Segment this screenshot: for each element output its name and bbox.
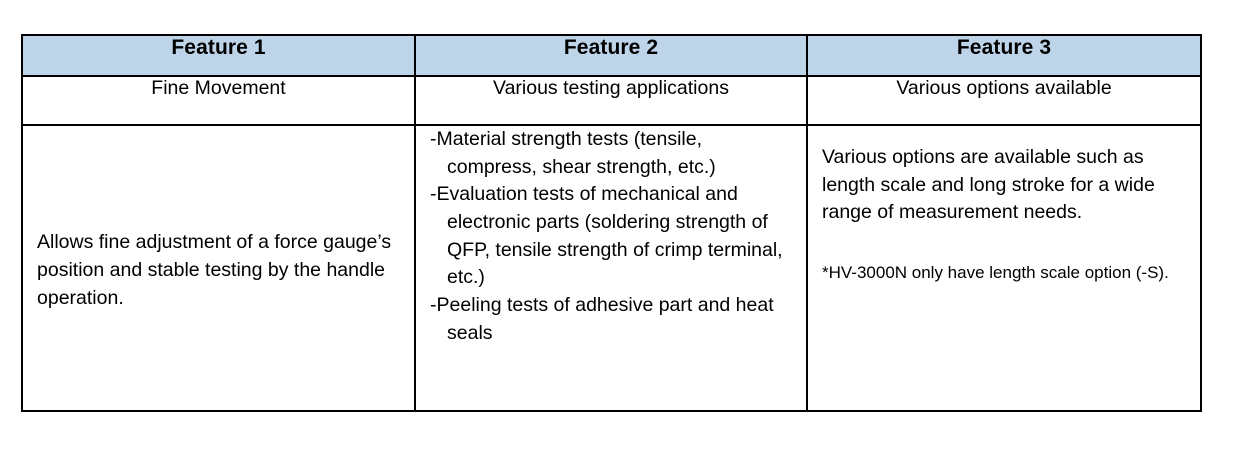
body-content-feature-2: -Material strength tests (tensile, compr…: [416, 126, 806, 348]
table-header-row: Feature 1 Feature 2 Feature 3: [22, 35, 1201, 76]
header-cell-feature-3: Feature 3: [807, 35, 1201, 76]
list-item: -Material strength tests (tensile, compr…: [430, 126, 796, 181]
subtitle-label-feature-1: Fine Movement: [23, 77, 414, 99]
page-root: Feature 1 Feature 2 Feature 3 Fine Movem…: [0, 0, 1243, 456]
header-cell-feature-1: Feature 1: [22, 35, 415, 76]
body-cell-feature-1: Allows fine adjustment of a force gauge’…: [22, 125, 415, 411]
subtitle-cell-feature-3: Various options available: [807, 76, 1201, 125]
body-content-feature-3: Various options are available such as le…: [808, 126, 1200, 293]
subtitle-label-feature-3: Various options available: [808, 77, 1200, 99]
header-label-feature-3: Feature 3: [808, 36, 1200, 59]
table-subtitle-row: Fine Movement Various testing applicatio…: [22, 76, 1201, 125]
feature-comparison-table: Feature 1 Feature 2 Feature 3 Fine Movem…: [21, 34, 1202, 412]
body-paragraph-feature-3: Various options are available such as le…: [822, 144, 1188, 227]
subtitle-cell-feature-2: Various testing applications: [415, 76, 807, 125]
body-footnote-feature-3: *HV-3000N only have length scale option …: [822, 261, 1188, 285]
body-paragraph-feature-1: Allows fine adjustment of a force gauge’…: [37, 229, 402, 312]
table-body-row: Allows fine adjustment of a force gauge’…: [22, 125, 1201, 411]
body-content-feature-1: Allows fine adjustment of a force gauge’…: [23, 215, 414, 320]
subtitle-cell-feature-1: Fine Movement: [22, 76, 415, 125]
body-cell-feature-3: Various options are available such as le…: [807, 125, 1201, 411]
body-cell-feature-2: -Material strength tests (tensile, compr…: [415, 125, 807, 411]
header-label-feature-1: Feature 1: [23, 36, 414, 59]
header-cell-feature-2: Feature 2: [415, 35, 807, 76]
list-item: -Peeling tests of adhesive part and heat…: [430, 292, 796, 347]
testing-applications-list: -Material strength tests (tensile, compr…: [430, 126, 796, 348]
list-item: -Evaluation tests of mechanical and elec…: [430, 181, 796, 292]
header-label-feature-2: Feature 2: [416, 36, 806, 59]
subtitle-label-feature-2: Various testing applications: [416, 77, 806, 99]
